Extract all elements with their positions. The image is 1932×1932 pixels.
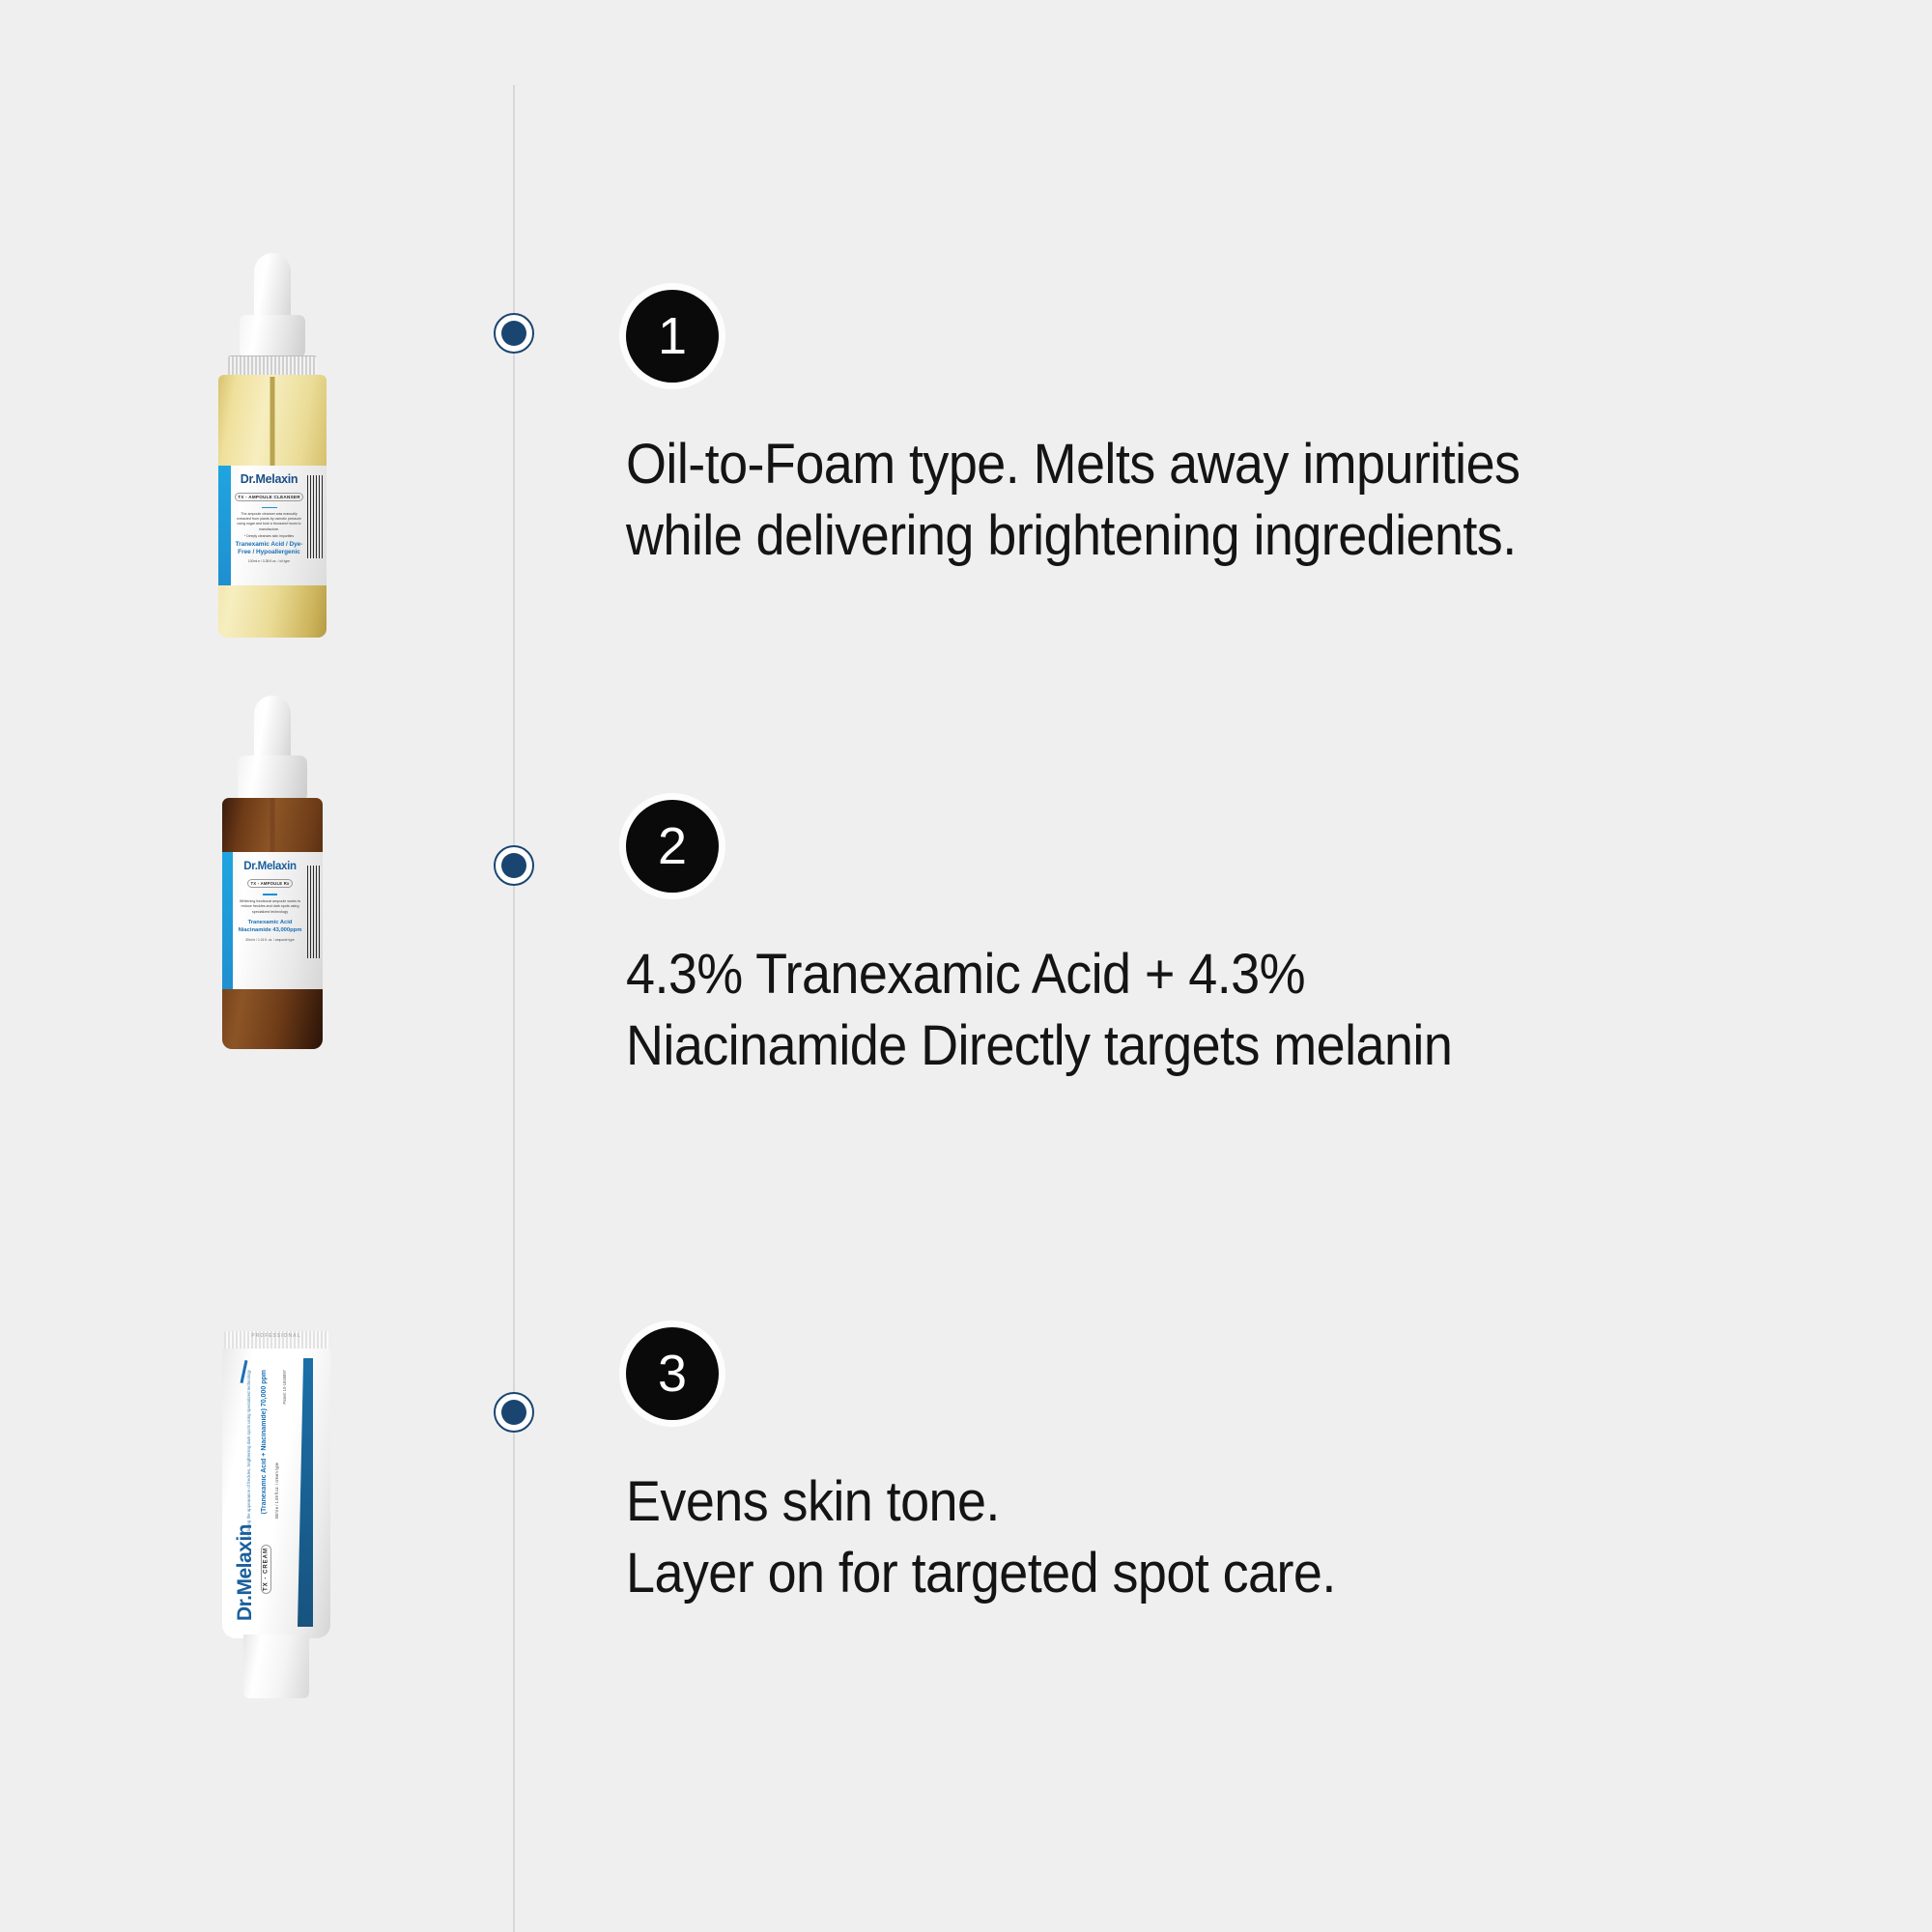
dropper-collar <box>240 315 305 357</box>
timeline-dot-1 <box>494 313 534 354</box>
pipette-tube <box>270 377 275 466</box>
label-blue-bar <box>222 852 233 989</box>
label-ingredients: Tranexamic Acid / Dye-Free / Hypoallerge… <box>235 541 303 557</box>
tube-cap <box>243 1634 309 1698</box>
tube-ingredients: (Tranexamic Acid + Niacinamide) 70,000 p… <box>261 1370 268 1514</box>
label-brand: Dr.Melaxin <box>235 472 303 486</box>
step-item-1: 1 Oil-to-Foam type. Melts away impuritie… <box>626 290 1587 572</box>
bottle-neck-ring <box>228 355 317 377</box>
product-label: Dr.Melaxin TX - AMPOULE Rx Whitening fun… <box>222 852 323 989</box>
label-claim: * Deeply cleanses skin impurities <box>235 534 303 538</box>
step-description-1: Oil-to-Foam type. Melts away impurities … <box>626 429 1520 572</box>
barcode <box>307 866 320 958</box>
label-brand: Dr.Melaxin <box>237 861 303 872</box>
tube-volume: 50ml e / 1.69 fl.oz. / cream type <box>274 1463 279 1519</box>
tube-crimp-text: PROFESSIONAL <box>224 1333 328 1339</box>
tube-product-line: TX - CREAM <box>261 1545 271 1594</box>
label-product-line: TX - AMPOULE Rx <box>247 879 292 889</box>
tube-crimp-seal: PROFESSIONAL <box>224 1331 328 1350</box>
product-label: Dr.Melaxin TX - AMPOULE CLEANSER The amp… <box>218 466 327 585</box>
label-ingredients: Tranexamic Acid Niacinamide 43,000ppm <box>237 920 303 935</box>
barcode <box>307 475 323 558</box>
label-divider <box>262 507 277 509</box>
label-description: The ampoule cleanser was manually extrac… <box>235 512 303 533</box>
product-image-ampoule-rx: Dr.Melaxin TX - AMPOULE Rx Whitening fun… <box>195 696 350 1059</box>
dropper-collar <box>238 755 307 802</box>
step-badge-1: 1 <box>626 290 719 383</box>
tube-patent: Patent 10-1848897 <box>282 1370 287 1405</box>
product-image-ampoule-cleanser: Dr.Melaxin TX - AMPOULE CLEANSER The amp… <box>191 253 354 639</box>
tube-blue-stripe <box>298 1358 313 1627</box>
label-description: Whitening functional ampoule works to re… <box>237 899 303 916</box>
label-volume: 30ml e / 1.01 fl. oz. / ampoule type <box>237 938 303 942</box>
step-item-3: 3 Evens skin tone. Layer on for targeted… <box>626 1327 1389 1609</box>
label-volume: 100ml e / 3.38 fl.oz. / oil type <box>235 559 303 563</box>
label-product-line: TX - AMPOULE CLEANSER <box>235 493 303 502</box>
step-badge-2: 2 <box>626 800 719 893</box>
timeline-dot-3 <box>494 1392 534 1433</box>
timeline-dot-2 <box>494 845 534 886</box>
timeline-vertical-line <box>513 85 515 1932</box>
label-divider <box>263 894 277 895</box>
bottle-body: Dr.Melaxin TX - AMPOULE CLEANSER The amp… <box>218 375 327 638</box>
step-description-2: 4.3% Tranexamic Acid + 4.3% Niacinamide … <box>626 939 1452 1082</box>
step-description-3: Evens skin tone. Layer on for targeted s… <box>626 1466 1336 1609</box>
product-image-tx-cream: PROFESSIONAL reducing the appearance of … <box>214 1331 338 1698</box>
label-blue-bar <box>218 466 231 585</box>
tube-description: reducing the appearance of freckles, bri… <box>245 1370 252 1537</box>
tube-body: reducing the appearance of freckles, bri… <box>222 1349 330 1638</box>
tube-brand: Dr.Melaxin <box>234 1524 257 1621</box>
bottle-body: Dr.Melaxin TX - AMPOULE Rx Whitening fun… <box>222 798 323 1049</box>
step-badge-3: 3 <box>626 1327 719 1420</box>
step-item-2: 2 4.3% Tranexamic Acid + 4.3% Niacinamid… <box>626 800 1515 1082</box>
